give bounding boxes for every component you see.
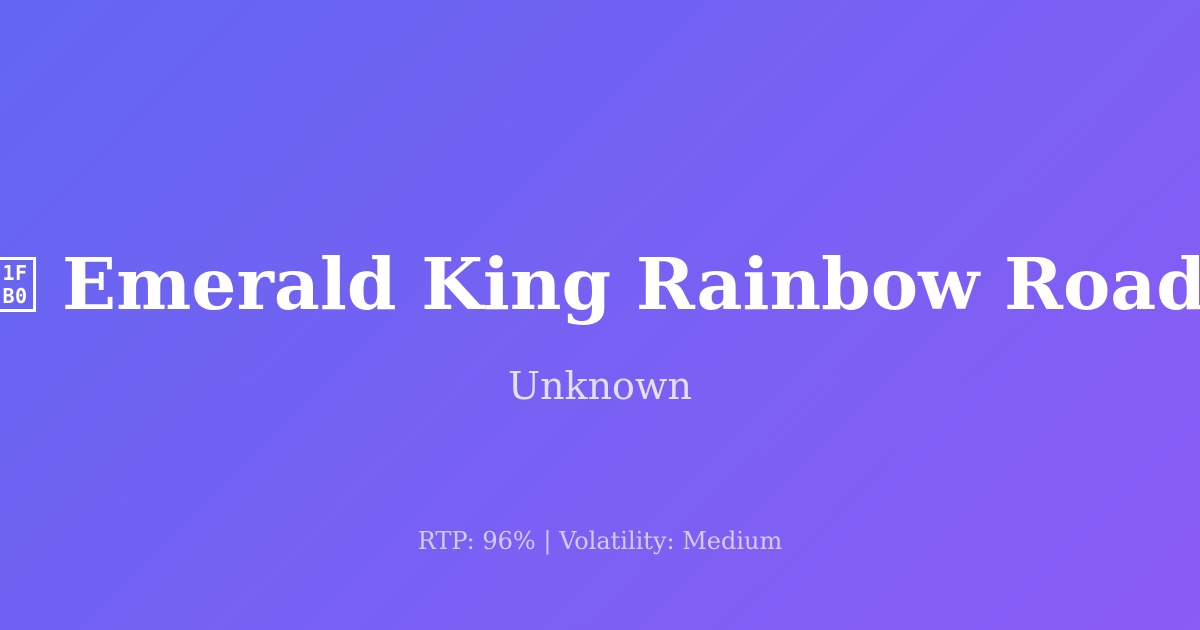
game-stats: RTP: 96% | Volatility: Medium <box>0 527 1200 556</box>
slot-machine-emoji-tofu-icon: 1F B0 <box>0 257 36 312</box>
game-provider: Unknown <box>0 364 1200 410</box>
tofu-codepoint-low: B0 <box>3 286 28 306</box>
game-title: Emerald King Rainbow Road <box>62 247 1200 322</box>
title-row: 1F B0 Emerald King Rainbow Road <box>0 236 1200 332</box>
game-og-card: 1F B0 Emerald King Rainbow Road Unknown … <box>0 0 1200 630</box>
tofu-codepoint-high: 1F <box>3 263 28 283</box>
